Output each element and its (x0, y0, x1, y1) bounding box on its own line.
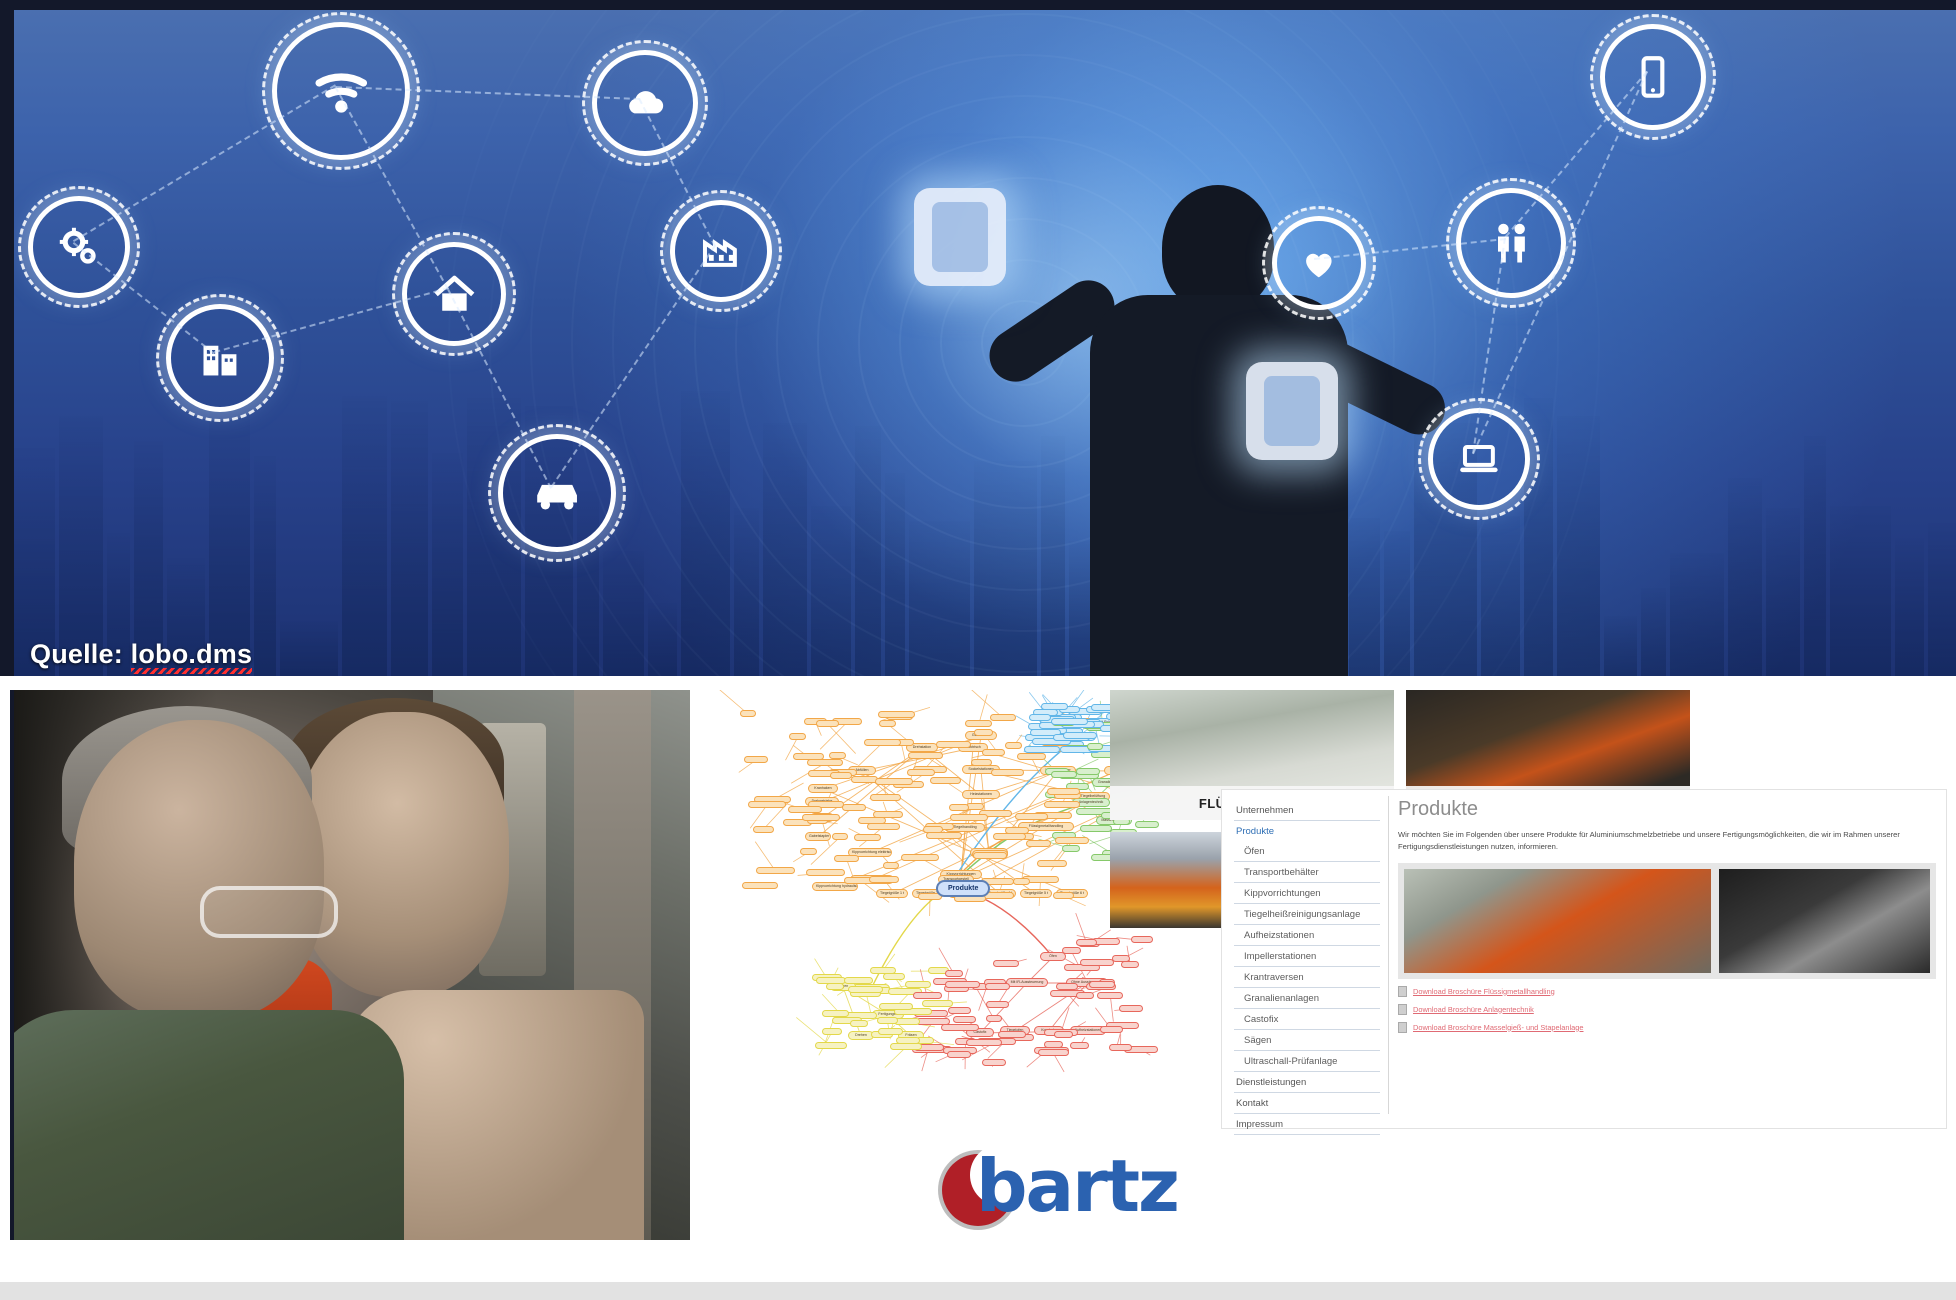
mindmap-node[interactable] (1038, 1049, 1069, 1056)
mindmap-node[interactable]: Kranhaken (808, 784, 838, 793)
mindmap-node[interactable] (832, 833, 849, 840)
cloud-icon[interactable] (592, 50, 698, 156)
mindmap-node[interactable] (998, 1031, 1025, 1038)
mindmap-node[interactable] (1047, 788, 1080, 795)
mindmap-node[interactable] (1056, 983, 1079, 990)
mindmap-node[interactable] (966, 1039, 1002, 1046)
slide-canvas: Quelle: lobo.dms FlüssigmetallhandlingTi… (0, 0, 1956, 1300)
mindmap-node[interactable] (1062, 947, 1082, 954)
mindmap-node[interactable] (1005, 827, 1029, 834)
website-main-content: Produkte Wir möchten Sie im Folgenden üb… (1398, 798, 1936, 1033)
download-link-label: Download Broschüre Flüssigmetallhandling (1413, 987, 1555, 996)
mindmap-node[interactable]: Drehen (848, 1031, 874, 1040)
mindmap-node[interactable] (990, 714, 1016, 721)
mindmap-node[interactable] (894, 1018, 919, 1025)
caption-source: lobo.dms (131, 639, 253, 670)
mindmap-node[interactable] (802, 814, 840, 821)
mindmap-node[interactable] (1026, 840, 1051, 847)
mindmap-node[interactable] (822, 1028, 842, 1035)
mindmap-node[interactable] (1055, 837, 1089, 844)
mindmap-node[interactable] (756, 867, 795, 874)
download-link[interactable]: Download Broschüre Masselgieß- und Stape… (1398, 1022, 1936, 1033)
download-link-label: Download Broschüre Anlagentechnik (1413, 1005, 1534, 1014)
sidebar-item-kontakt[interactable]: Kontakt (1234, 1093, 1380, 1114)
home-icon[interactable] (402, 242, 506, 346)
mindmap-node[interactable] (930, 777, 960, 784)
mindmap-node[interactable] (744, 756, 767, 763)
mindmap-node[interactable] (993, 833, 1026, 840)
mindmap-node[interactable] (907, 769, 935, 776)
mindmap-node[interactable] (1062, 845, 1081, 852)
mindmap-node[interactable]: Gabelstapler (805, 832, 831, 841)
mindmap-node[interactable] (1087, 743, 1103, 750)
sidebar-item-krantraversen[interactable]: Krantraversen (1234, 967, 1380, 988)
mindmap-node[interactable] (949, 804, 969, 811)
mindmap-node[interactable] (926, 832, 962, 839)
mindmap-node[interactable]: Mit IR-Aussteuerung (1006, 978, 1048, 987)
mindmap-node[interactable] (829, 752, 846, 759)
mindmap-node[interactable] (854, 834, 881, 841)
sidebar-item-unternehmen[interactable]: Unternehmen (1234, 800, 1380, 821)
sidebar-item-transportbeh-lter[interactable]: Transportbehälter (1234, 862, 1380, 883)
laptop-icon[interactable] (1428, 408, 1530, 510)
mindmap-node[interactable]: Öfen (1040, 952, 1066, 961)
apprentice-head (294, 712, 509, 997)
sidebar-item-impressum[interactable]: Impressum (1234, 1114, 1380, 1135)
mindmap-node[interactable] (1005, 742, 1022, 749)
pdf-icon (1398, 986, 1407, 997)
touch-panel-right (1246, 362, 1338, 460)
mindmap-node[interactable] (788, 806, 822, 813)
silhouette-head (1162, 185, 1274, 311)
sidebar-item-impellerstationen[interactable]: Impellerstationen (1234, 946, 1380, 967)
pdf-icon (1398, 1004, 1407, 1015)
mindmap-node[interactable] (807, 759, 843, 766)
touch-panel-left (914, 188, 1006, 286)
hero-image-industry40: Quelle: lobo.dms (0, 0, 1956, 676)
mindmap-node[interactable]: Tiegelgröße 1 t (876, 889, 908, 898)
sidebar-item-castofix[interactable]: Castofix (1234, 1009, 1380, 1030)
mindmap-node[interactable] (1076, 992, 1094, 999)
product-photo-row (1398, 863, 1936, 979)
mindmap-node[interactable] (1076, 939, 1097, 946)
mindmap-node[interactable] (1054, 1031, 1073, 1038)
mindmap-node[interactable] (830, 772, 851, 779)
mindmap-node[interactable] (753, 826, 774, 833)
mindmap-node[interactable] (822, 1010, 850, 1017)
image-source-caption: Quelle: lobo.dms (30, 639, 252, 670)
trainer-head (74, 720, 324, 1020)
sidebar-item-dienstleistungen[interactable]: Dienstleistungen (1234, 1072, 1380, 1093)
car-icon[interactable] (498, 434, 616, 552)
pdf-icon (1398, 1022, 1407, 1033)
mindmap-node[interactable] (1044, 801, 1080, 808)
sidebar-item--fen[interactable]: Öfen (1234, 841, 1380, 862)
product-photo-ingots (1719, 869, 1930, 973)
sidebar-item-granalienanlagen[interactable]: Granalienanlagen (1234, 988, 1380, 1009)
download-link-label: Download Broschüre Masselgieß- und Stape… (1413, 1023, 1584, 1032)
mindmap-node[interactable] (908, 752, 943, 759)
mindmap-node[interactable] (965, 720, 992, 727)
mindmap-node[interactable] (916, 1018, 951, 1025)
mindmap-node[interactable] (870, 794, 900, 801)
mindmap-node[interactable] (875, 778, 913, 785)
mindmap-node[interactable] (945, 981, 980, 988)
mindmap-node[interactable] (740, 710, 756, 717)
building-icon[interactable] (166, 304, 274, 412)
mindmap-node[interactable] (1063, 732, 1097, 739)
mindmap-node[interactable] (982, 749, 1005, 756)
mindmap-node[interactable] (1070, 1042, 1089, 1049)
mindmap-node[interactable] (982, 1059, 1007, 1066)
sidebar-divider (1388, 796, 1389, 1114)
mindmap-node[interactable] (1015, 813, 1048, 820)
trainer-body (10, 1010, 404, 1240)
mindmap-node[interactable] (986, 1015, 1003, 1022)
mindmap-node[interactable] (985, 983, 1009, 990)
mindmap-node[interactable] (851, 776, 878, 783)
apprentice-training-photo (10, 690, 690, 1240)
sidebar-item-tiegelhei-reinigungsanlage[interactable]: Tiegelheißreinigungsanlage (1234, 904, 1380, 925)
mindmap-node[interactable] (973, 852, 1007, 859)
mindmap-node[interactable] (816, 720, 839, 727)
download-links: Download Broschüre Flüssigmetallhandling… (1398, 986, 1936, 1033)
sidebar-item-kippvorrichtungen[interactable]: Kippvorrichtungen (1234, 883, 1380, 904)
download-link[interactable]: Download Broschüre Anlagentechnik (1398, 1004, 1936, 1015)
mindmap-node[interactable] (1076, 768, 1100, 775)
mindmap-node[interactable] (905, 981, 931, 988)
mindmap-root-node[interactable]: Produkte (936, 880, 990, 897)
mindmap-node[interactable] (1053, 892, 1074, 899)
mindmap-node[interactable] (869, 876, 898, 883)
bottom-bar (0, 1282, 1956, 1300)
mindmap-node[interactable] (879, 720, 895, 727)
mindmap-node[interactable] (974, 729, 993, 736)
mindmap-node[interactable] (1041, 703, 1069, 710)
mindmap-node[interactable] (883, 862, 900, 869)
wifi-icon[interactable] (272, 22, 410, 160)
mindmap-node[interactable] (850, 1020, 868, 1027)
mindmap-node[interactable] (878, 1028, 903, 1035)
eyeglasses (200, 886, 338, 938)
sidebar-item-produkte[interactable]: Produkte (1234, 821, 1380, 841)
mindmap-node[interactable] (1051, 718, 1088, 725)
mindmap-node[interactable] (742, 882, 778, 889)
mindmap-node[interactable] (971, 759, 992, 766)
mindmap-node[interactable] (948, 1007, 971, 1014)
mindmap-node[interactable] (953, 1016, 976, 1023)
mindmap-node[interactable] (1013, 878, 1030, 885)
mindmap-node[interactable]: Heizstationen (962, 790, 1000, 799)
mindmap-node[interactable] (789, 733, 806, 740)
mindmap-node[interactable] (867, 823, 900, 830)
website-and-mindmap-panel: FlüssigmetallhandlingTiegelhandlingTrans… (700, 690, 1946, 1240)
website-sidebar-nav: UnternehmenProdukteÖfenTransportbehälter… (1234, 800, 1380, 1135)
mindmap-node[interactable] (815, 1042, 847, 1049)
mindmap-node[interactable] (826, 983, 844, 990)
mindmap-node[interactable] (950, 814, 988, 821)
page-title: Produkte (1398, 798, 1936, 821)
mindmap-node[interactable] (922, 1000, 953, 1007)
sidebar-item-ultraschall-pr-fanlage[interactable]: Ultraschall-Prüfanlage (1234, 1051, 1380, 1072)
caption-prefix: Quelle: (30, 639, 131, 669)
mindmap-node[interactable] (923, 826, 943, 833)
mindmap-node[interactable] (1029, 714, 1050, 721)
mindmap-node[interactable] (896, 1037, 920, 1044)
mindmap-node[interactable] (986, 1001, 1008, 1008)
mindmap-node[interactable] (1037, 860, 1067, 867)
heart-icon[interactable] (1272, 216, 1366, 310)
silhouette-body (1090, 295, 1348, 676)
mindmap-node[interactable] (890, 1043, 921, 1050)
mindmap-node[interactable] (913, 992, 942, 999)
mindmap-node[interactable] (879, 1003, 913, 1010)
mindmap-node[interactable] (1051, 771, 1076, 778)
mindmap-node[interactable] (947, 1051, 970, 1058)
mindmap-node[interactable] (945, 970, 963, 977)
mindmap-node[interactable] (1080, 825, 1112, 832)
mindmap-node[interactable] (864, 739, 901, 746)
mindmap-node[interactable] (993, 960, 1019, 967)
bartz-website-screenshot: FLÜSSIGMETALLHANDLING ÖFEN UnternehmenPr… (1110, 690, 1946, 1240)
mindmap-node[interactable] (878, 711, 916, 718)
page-intro-paragraph: Wir möchten Sie im Folgenden über unsere… (1398, 829, 1936, 853)
website-content-area: UnternehmenProdukteÖfenTransportbehälter… (1222, 790, 1946, 1128)
mindmap-node[interactable] (748, 801, 786, 808)
mindmap-node[interactable] (877, 1017, 899, 1024)
mindmap-node[interactable] (901, 854, 939, 861)
mindmap-node[interactable] (844, 977, 872, 984)
mindmap-node[interactable] (848, 986, 883, 993)
mindmap-node[interactable] (936, 741, 971, 748)
smartphone-icon[interactable] (1600, 24, 1706, 130)
mindmap-node[interactable] (883, 973, 905, 980)
product-photo-impeller (1404, 869, 1711, 973)
mindmap-node[interactable] (800, 848, 817, 855)
mindmap-node[interactable] (842, 804, 866, 811)
mindmap-node[interactable] (941, 1024, 979, 1031)
mindmap-node[interactable]: Tiegelgröße 5 t (1020, 889, 1052, 898)
sidebar-item-s-gen[interactable]: Sägen (1234, 1030, 1380, 1051)
mindmap-node[interactable] (991, 769, 1024, 776)
sidebar-item-aufheizstationen[interactable]: Aufheizstationen (1234, 925, 1380, 946)
mindmap-node[interactable] (806, 869, 845, 876)
mindmap-node[interactable] (834, 855, 858, 862)
mindmap-node[interactable] (1024, 746, 1060, 753)
download-link[interactable]: Download Broschüre Flüssigmetallhandling (1398, 986, 1936, 997)
mindmap-node[interactable] (1017, 753, 1045, 760)
